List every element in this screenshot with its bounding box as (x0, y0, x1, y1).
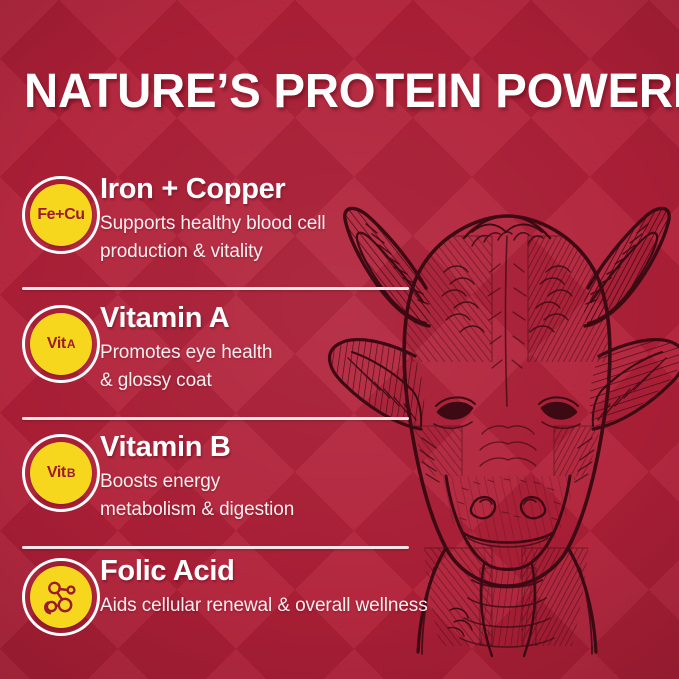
benefit-badge-vitamin-b: VitB (22, 434, 100, 512)
benefit-description: Promotes eye health & glossy coat (100, 339, 500, 395)
benefit-description-line: Boosts energy (100, 468, 500, 496)
infographic-poster: NATURE’S PROTEIN POWERHOUSE Fe+Cu Iron +… (0, 0, 679, 679)
badge-inner-disc: Fe+Cu (30, 184, 92, 246)
benefit-title: Folic Acid (100, 554, 500, 588)
benefit-description-line: Supports healthy blood cell (100, 210, 500, 238)
benefit-description-line: Promotes eye health (100, 339, 500, 367)
benefit-description: Supports healthy blood cell production &… (100, 210, 500, 266)
badge-inner-disc: VitA (30, 313, 92, 375)
badge-label: VitB (47, 465, 75, 481)
molecule-cluster-icon (39, 575, 83, 619)
benefit-title: Vitamin A (100, 301, 500, 335)
page-title: NATURE’S PROTEIN POWERHOUSE (24, 64, 654, 120)
benefit-body: Folic Acid Aids cellular renewal & overa… (100, 554, 500, 620)
benefit-body: Vitamin A Promotes eye health & glossy c… (100, 301, 500, 395)
benefit-description: Boosts energy metabolism & digestion (100, 468, 500, 524)
badge-label: Fe+Cu (37, 207, 84, 223)
benefit-description-line: Aids cellular renewal & overall wellness (100, 592, 500, 620)
badge-label: VitA (47, 336, 75, 352)
benefit-description-line: metabolism & digestion (100, 496, 500, 524)
badge-inner-disc (30, 566, 92, 628)
benefit-badge-iron-copper: Fe+Cu (22, 176, 100, 254)
benefit-description-line: & glossy coat (100, 367, 500, 395)
benefit-badge-folic-acid (22, 558, 100, 636)
badge-inner-disc: VitB (30, 442, 92, 504)
benefit-description: Aids cellular renewal & overall wellness (100, 592, 500, 620)
section-divider (22, 287, 409, 290)
section-divider (22, 417, 409, 420)
benefit-body: Iron + Copper Supports healthy blood cel… (100, 172, 500, 266)
benefit-title: Iron + Copper (100, 172, 500, 206)
benefit-body: Vitamin B Boosts energy metabolism & dig… (100, 430, 500, 524)
benefit-badge-vitamin-a: VitA (22, 305, 100, 383)
benefit-description-line: production & vitality (100, 238, 500, 266)
section-divider (22, 546, 409, 549)
benefit-title: Vitamin B (100, 430, 500, 464)
